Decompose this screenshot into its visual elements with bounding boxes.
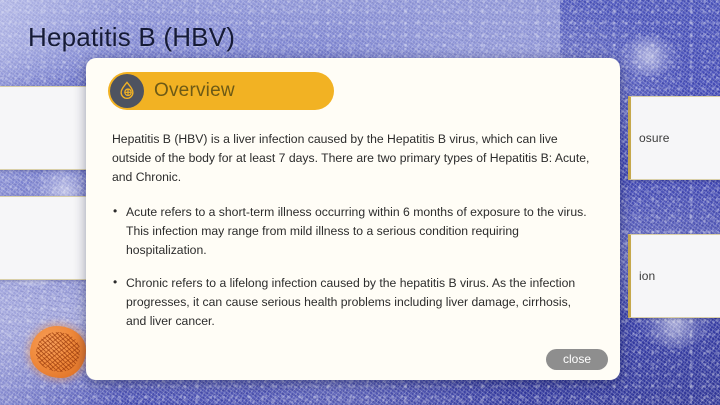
slide-root: osure ion Hepatitis B (HBV) Overview Hep… <box>0 0 720 405</box>
list-item: Acute refers to a short-term illness occ… <box>112 203 594 260</box>
overview-body: Hepatitis B (HBV) is a liver infection c… <box>112 130 594 331</box>
background-light-patch <box>620 36 678 76</box>
background-card-exposure[interactable]: osure <box>628 96 720 180</box>
overview-modal: Overview Hepatitis B (HBV) is a liver in… <box>86 58 620 380</box>
close-button[interactable]: close <box>546 349 608 370</box>
background-card-label: ion <box>639 269 655 283</box>
overview-badge-title: Overview <box>154 80 235 102</box>
overview-bullet-list: Acute refers to a short-term illness occ… <box>112 203 594 331</box>
blood-drop-plus-icon <box>110 74 144 108</box>
background-card-left-bottom[interactable] <box>0 196 90 280</box>
overview-intro-paragraph: Hepatitis B (HBV) is a liver infection c… <box>112 130 594 187</box>
page-title: Hepatitis B (HBV) <box>28 22 235 53</box>
background-card-label: osure <box>639 131 670 145</box>
virus-particle-graphic <box>30 326 86 378</box>
background-card-left-top[interactable] <box>0 86 90 170</box>
background-card-prevention[interactable]: ion <box>628 234 720 318</box>
overview-badge: Overview <box>108 72 334 110</box>
list-item: Chronic refers to a lifelong infection c… <box>112 274 594 331</box>
